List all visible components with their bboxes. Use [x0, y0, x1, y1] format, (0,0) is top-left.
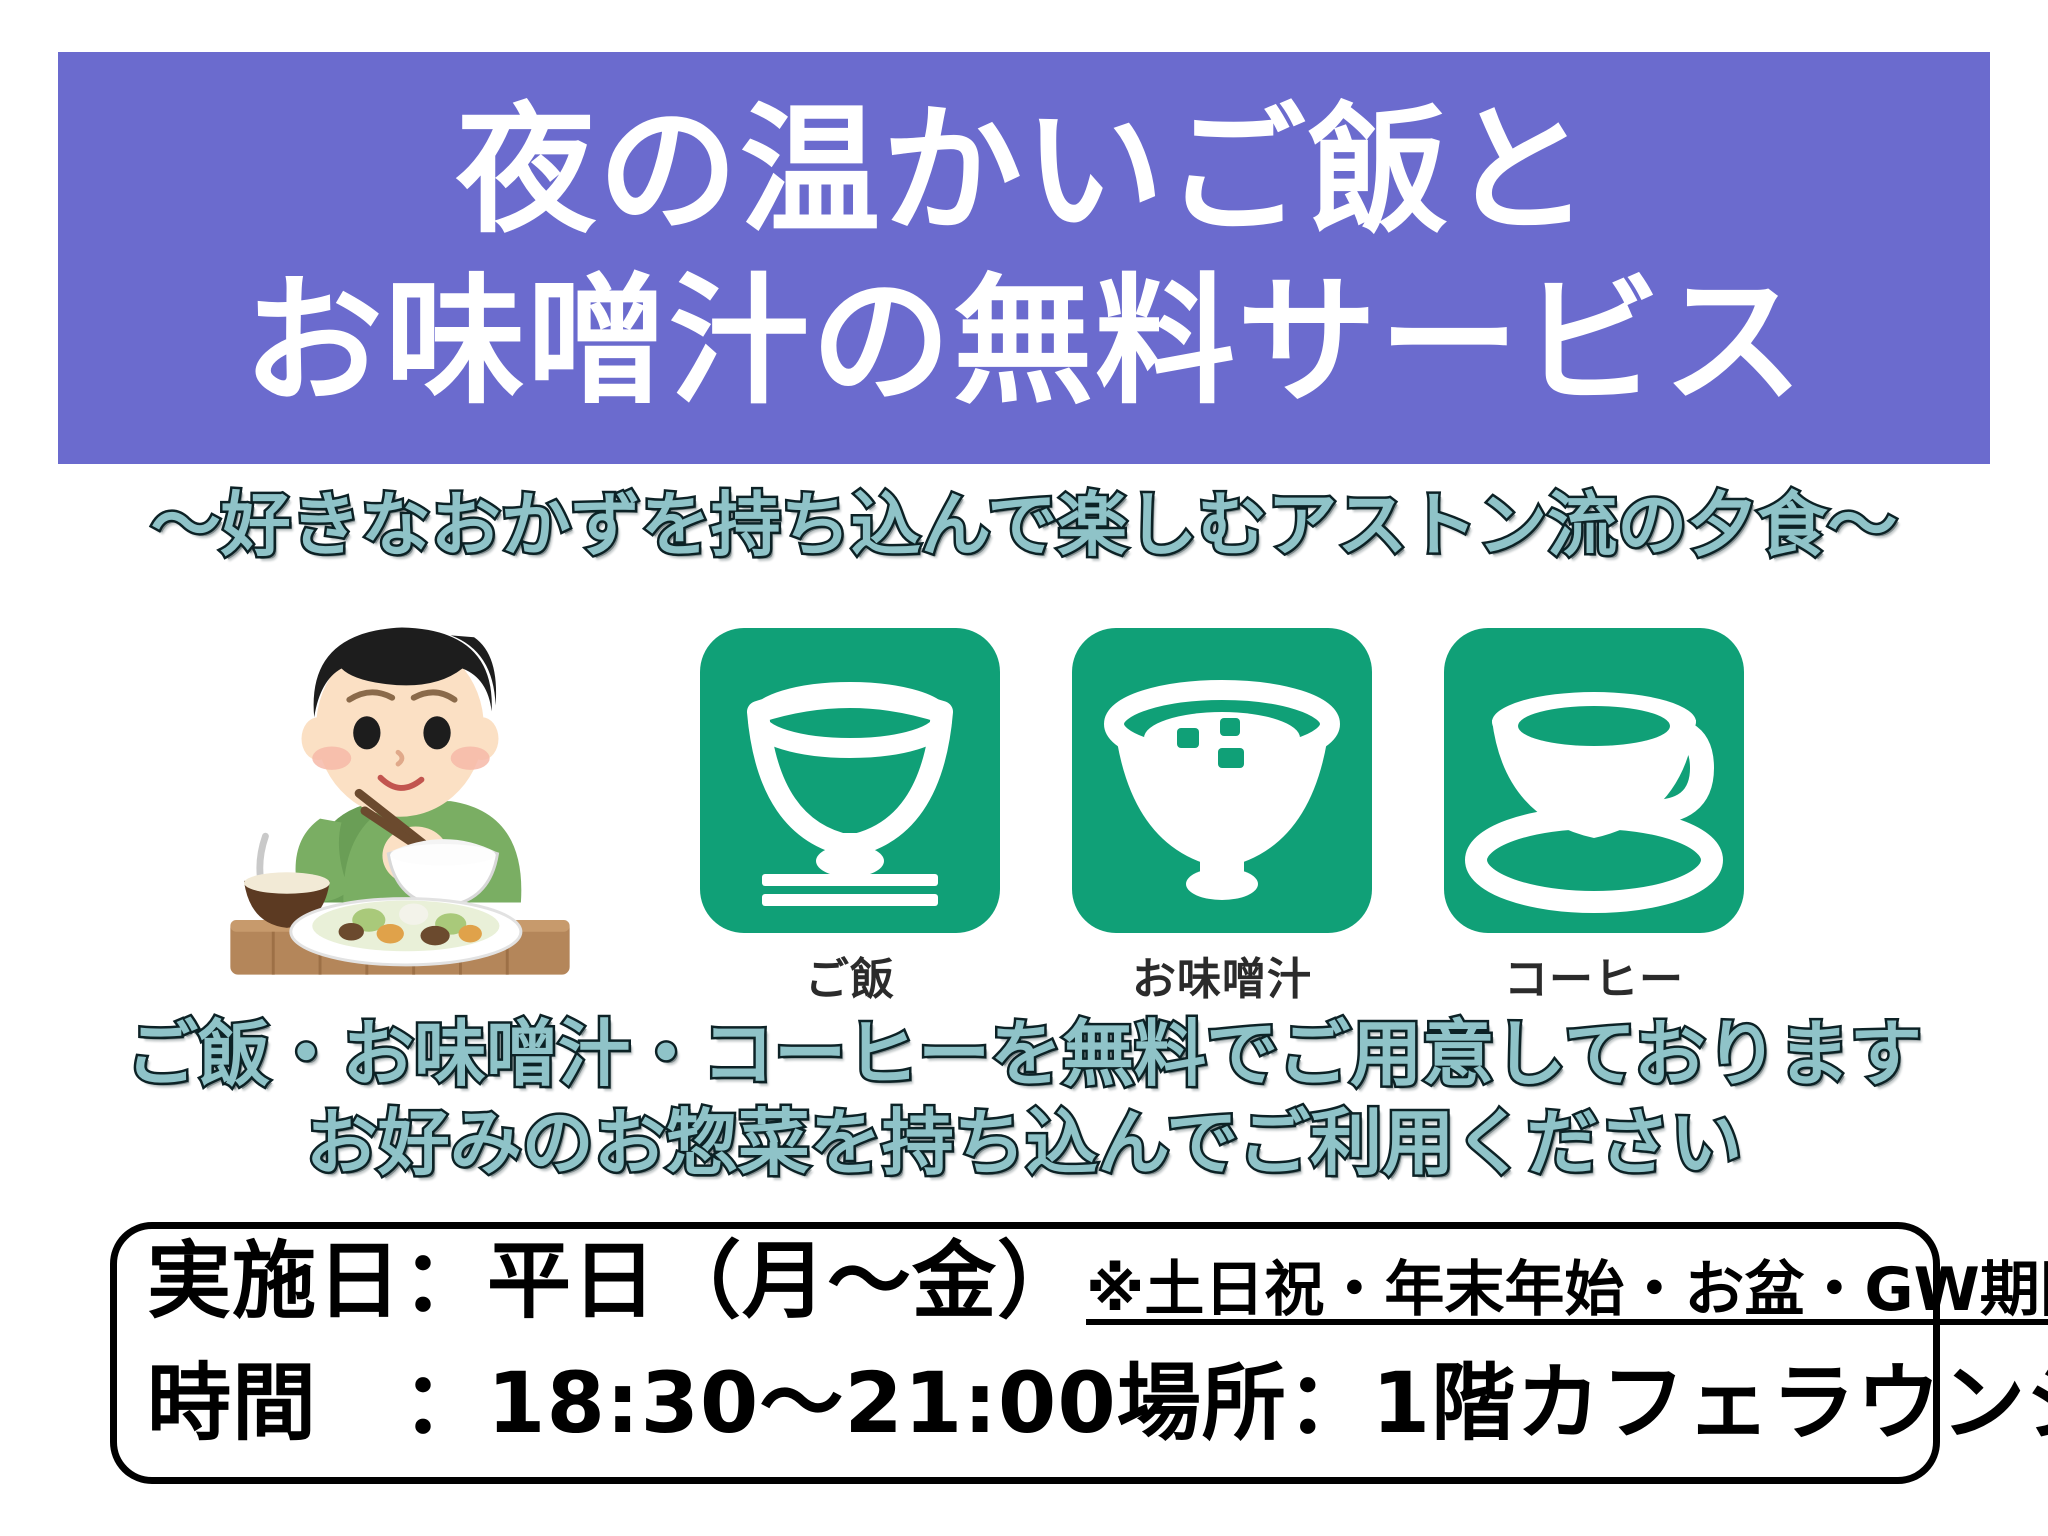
info-place-note: 場所：1階カフェラウンジ	[1117, 1361, 2048, 1445]
body-text-block: ご飯・お味噌汁・コーヒーを無料でご用意しております お好みのお惣菜を持ち込んでご…	[0, 1010, 2048, 1189]
subtitle-text: 〜好きなおかずを持ち込んで楽しむアストン流の夕食〜	[0, 490, 2048, 560]
info-date-label: 実施日：平日（月〜金）	[147, 1239, 1082, 1323]
info-box: 実施日：平日（月〜金） ※土日祝・年末年始・お盆・GW期間は休み 時間 ：18:…	[110, 1222, 1940, 1484]
poster-root: 夜の温かいご飯と お味噌汁の無料サービス 〜好きなおかずを持ち込んで楽しむアスト…	[0, 0, 2048, 1536]
man-eating-illustration	[205, 610, 595, 1000]
headline-line-1: 夜の温かいご飯と	[456, 87, 1592, 258]
info-date-note: ※土日祝・年末年始・お盆・GW期間は休み	[1082, 1260, 2048, 1320]
icon-label-coffee: コーヒー	[1444, 943, 1744, 1007]
icon-tile-miso: お味噌汁	[1072, 628, 1372, 1007]
body-line-1: ご飯・お味噌汁・コーヒーを無料でご用意しております	[0, 1010, 2048, 1099]
coffee-cup-icon	[1444, 628, 1744, 933]
icon-label-rice: ご飯	[700, 943, 1000, 1007]
body-line-2: お好みのお惣菜を持ち込んでご利用ください	[0, 1099, 2048, 1188]
header-banner: 夜の温かいご飯と お味噌汁の無料サービス	[58, 52, 1990, 464]
icon-tile-rice: ご飯	[700, 628, 1000, 1007]
info-row-time: 時間 ：18:30〜21:00 場所：1階カフェラウンジ	[147, 1361, 1903, 1481]
headline-line-2: お味噌汁の無料サービス	[243, 258, 1805, 429]
miso-soup-icon	[1072, 628, 1372, 933]
info-time-label: 時間 ：18:30〜21:00	[147, 1361, 1117, 1445]
icon-tile-coffee: コーヒー	[1444, 628, 1744, 1007]
icon-label-miso: お味噌汁	[1072, 943, 1372, 1007]
info-row-date: 実施日：平日（月〜金） ※土日祝・年末年始・お盆・GW期間は休み	[147, 1239, 1903, 1361]
rice-bowl-icon	[700, 628, 1000, 933]
visual-row: ご飯 お味噌汁	[0, 610, 2048, 1000]
